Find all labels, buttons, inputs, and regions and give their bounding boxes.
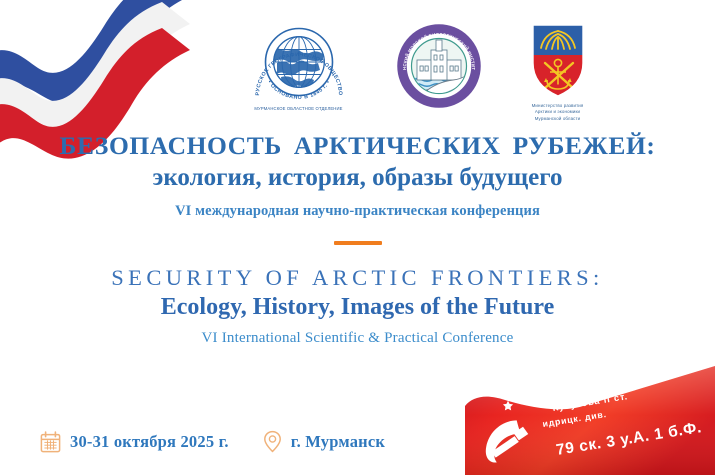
victory-banner-line-3: идрицк. див. <box>542 409 608 429</box>
murmansk-coat-of-arms-icon <box>527 22 589 100</box>
logo-row: РУССКОЕ ГЕОГРАФИЧЕСКОЕ ОБЩЕСТВО • ОСНОВА… <box>0 22 715 132</box>
mmbi-emblem-icon: МУРМАНСКИЙ МОРСКОЙ БИОЛОГИЧЕСКИЙ ИНСТИТУ… <box>395 22 483 110</box>
title-block: БЕЗОПАСНОСТЬ АРКТИЧЕСКИХ РУБЕЖЕЙ: эколог… <box>0 132 715 347</box>
footer-meta: 30-31 октября 2025 г. г. Мурманск <box>40 430 385 453</box>
victory-banner-line-1: 150 стр. ордена <box>546 375 631 398</box>
ministry-logo-caption: Министерство развития Арктики и экономик… <box>532 103 584 122</box>
victory-banner-line-4: 79 ск. 3 у.А. 1 б.Ф. <box>555 419 703 459</box>
murmansk-marine-biological-institute-logo: МУРМАНСКИЙ МОРСКОЙ БИОЛОГИЧЕСКИЙ ИНСТИТУ… <box>395 22 483 112</box>
russian-title-line-2: экология, история, образы будущего <box>0 163 715 194</box>
conference-poster: РУССКОЕ ГЕОГРАФИЧЕСКОЕ ОБЩЕСТВО • ОСНОВА… <box>0 0 715 475</box>
conference-location: г. Мурманск <box>263 430 385 453</box>
russian-geographical-society-logo: РУССКОЕ ГЕОГРАФИЧЕСКОЕ ОБЩЕСТВО • ОСНОВА… <box>247 22 351 112</box>
russian-title-line-1: БЕЗОПАСНОСТЬ АРКТИЧЕСКИХ РУБЕЖЕЙ: <box>0 132 715 161</box>
calendar-icon <box>40 431 61 453</box>
english-title-line-2: Ecology, History, Images of the Future <box>0 293 715 322</box>
victory-banner-line-2: Кутузова II ст. <box>552 391 629 413</box>
hammer-sickle-star-icon <box>486 401 528 463</box>
victory-banner: 150 стр. ордена Кутузова II ст. идрицк. … <box>465 360 715 475</box>
rgs-emblem-icon: РУССКОЕ ГЕОГРАФИЧЕСКОЕ ОБЩЕСТВО • ОСНОВА… <box>247 22 351 104</box>
map-pin-icon <box>263 430 282 453</box>
conference-location-text: г. Мурманск <box>291 432 385 452</box>
murmansk-oblast-ministry-logo: Министерство развития Арктики и экономик… <box>527 22 589 122</box>
english-title-line-1: SECURITY OF ARCTIC FRONTIERS: <box>0 265 715 291</box>
russian-subtitle: VI международная научно-практическая кон… <box>0 203 715 220</box>
conference-date: 30-31 октября 2025 г. <box>40 431 229 453</box>
conference-date-text: 30-31 октября 2025 г. <box>70 432 229 452</box>
rgs-logo-caption: МУРМАНСКОЕ ОБЛАСТНОЕ ОТДЕЛЕНИЕ <box>254 106 342 112</box>
orange-divider <box>334 241 382 245</box>
english-subtitle: VI International Scientific & Practical … <box>0 330 715 347</box>
